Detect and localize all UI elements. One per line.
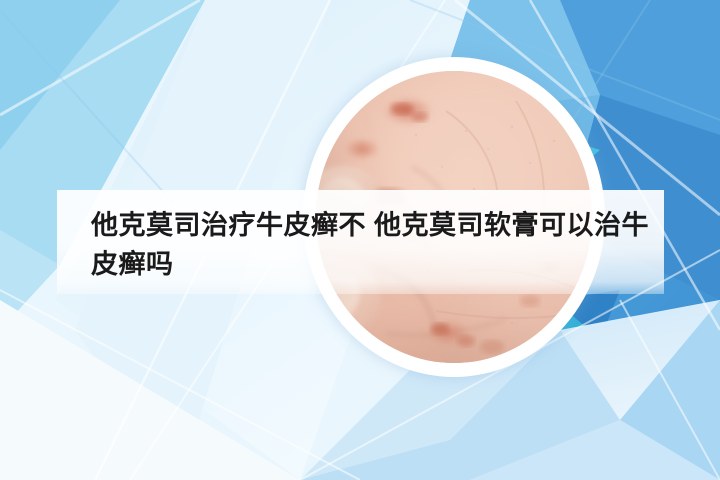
page-title: 他克莫司治疗牛皮癣不 他克莫司软膏可以治牛皮癣吗 xyxy=(91,206,651,284)
article-card: 他克莫司治疗牛皮癣不 他克莫司软膏可以治牛皮癣吗 xyxy=(0,0,720,480)
